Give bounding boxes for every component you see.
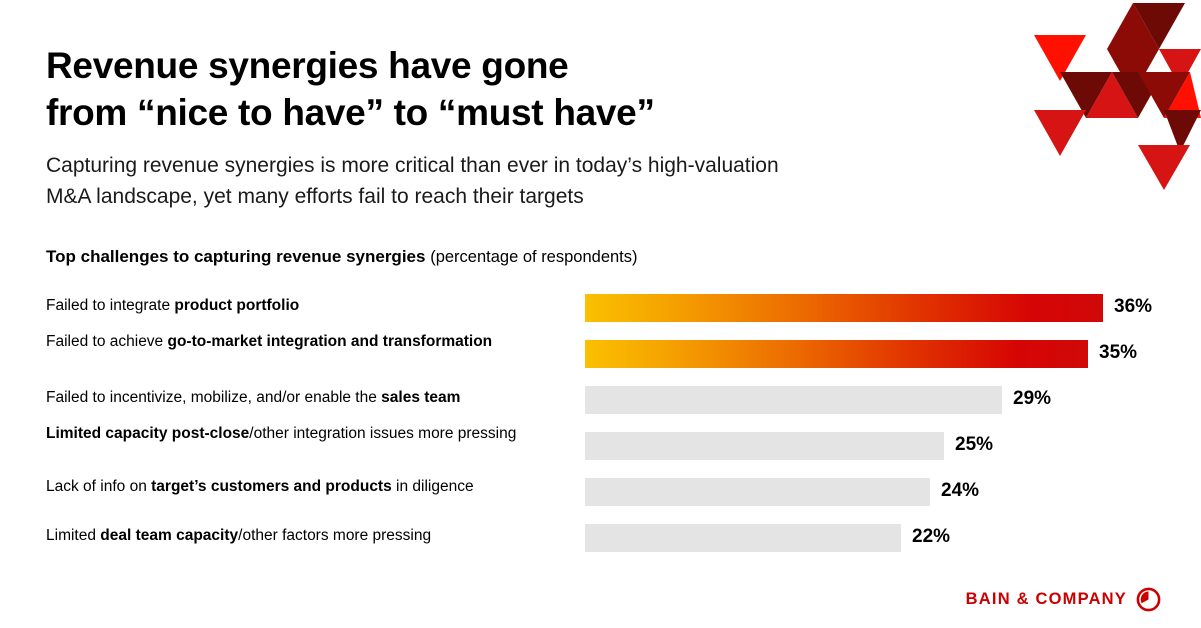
bar-row-label: Failed to achieve go-to-market integrati… (46, 332, 574, 351)
bar-value-label: 22% (912, 526, 950, 548)
bar-value-label: 36% (1114, 296, 1152, 318)
label-text: /other integration issues more pressing (249, 425, 516, 442)
bar-row-label: Failed to integrate product portfolio (46, 296, 574, 315)
bar-row: Failed to integrate product portfolio36% (46, 290, 1166, 336)
label-emphasis: product portfolio (174, 297, 299, 314)
label-text: Failed to achieve (46, 333, 168, 350)
bar-value-label: 35% (1099, 342, 1137, 364)
triangle-8 (1112, 72, 1164, 118)
triangle-11 (1034, 110, 1086, 156)
label-text: /other factors more pressing (238, 527, 431, 544)
bar-chart: Top challenges to capturing revenue syne… (46, 246, 1166, 566)
page-header: Revenue synergies have gone from “nice t… (46, 42, 996, 212)
bar-row: Limited deal team capacity/other factors… (46, 520, 1166, 566)
triangle-10 (1164, 72, 1201, 118)
page-title: Revenue synergies have gone from “nice t… (46, 42, 996, 136)
triangle-7 (1086, 72, 1138, 118)
bain-circle-mark-icon (1136, 587, 1161, 612)
bar (585, 386, 1002, 414)
bar (585, 478, 930, 506)
label-emphasis: Limited capacity post-close (46, 425, 249, 442)
triangle-6 (1060, 72, 1112, 118)
bar (585, 432, 944, 460)
bar-track: 25% (585, 432, 1160, 460)
label-emphasis: go-to-market integration and transformat… (168, 333, 493, 350)
bar (585, 340, 1088, 368)
triangle-9 (1138, 72, 1190, 118)
bar-rows: Failed to integrate product portfolio36%… (46, 290, 1166, 566)
bar-track: 24% (585, 478, 1160, 506)
bar-track: 22% (585, 524, 1160, 552)
bar-row-label: Limited capacity post-close/other integr… (46, 424, 574, 443)
page-title-line1: Revenue synergies have gone (46, 45, 568, 86)
triangle-motif-svg (1010, 0, 1201, 190)
label-text: Failed to integrate (46, 297, 174, 314)
chart-subtitle: (percentage of respondents) (430, 248, 637, 266)
chart-title: Top challenges to capturing revenue syne… (46, 247, 425, 266)
label-text: Lack of info on (46, 478, 151, 495)
bain-wordmark: BAIN & COMPANY (966, 590, 1127, 609)
label-emphasis: target’s customers and products (151, 478, 392, 495)
bar-track: 29% (585, 386, 1160, 414)
bar-value-label: 24% (941, 480, 979, 502)
bar-row-label: Limited deal team capacity/other factors… (46, 526, 574, 545)
bar-row: Lack of info on target’s customers and p… (46, 474, 1166, 520)
label-text: in diligence (392, 478, 474, 495)
bar-row: Limited capacity post-close/other integr… (46, 428, 1166, 474)
label-text: Limited (46, 527, 100, 544)
bar-value-label: 29% (1013, 388, 1051, 410)
bar-value-label: 25% (955, 434, 993, 456)
triangle-1 (1133, 3, 1185, 49)
page-title-line2: from “nice to have” to “must have” (46, 92, 655, 133)
bar-track: 36% (585, 294, 1160, 322)
bar-row: Failed to incentivize, mobilize, and/or … (46, 382, 1166, 428)
label-emphasis: deal team capacity (100, 527, 238, 544)
triangle-12 (1164, 110, 1201, 152)
triangle-13 (1138, 145, 1190, 190)
triangle-3 (1034, 35, 1086, 81)
triangle-4 (1107, 49, 1159, 95)
label-text: Failed to incentivize, mobilize, and/or … (46, 389, 381, 406)
bar (585, 524, 901, 552)
bar-track: 35% (585, 340, 1160, 368)
bain-company-logo: BAIN & COMPANY (966, 587, 1161, 612)
bar-row: Failed to achieve go-to-market integrati… (46, 336, 1166, 382)
label-emphasis: sales team (381, 389, 460, 406)
bar-row-label: Lack of info on target’s customers and p… (46, 477, 574, 496)
page-subtitle: Capturing revenue synergies is more crit… (46, 150, 996, 212)
bar (585, 294, 1103, 322)
triangle-5 (1159, 49, 1201, 87)
chart-header: Top challenges to capturing revenue syne… (46, 246, 1166, 268)
page-subtitle-line2: M&A landscape, yet many efforts fail to … (46, 185, 584, 208)
page-subtitle-line1: Capturing revenue synergies is more crit… (46, 154, 779, 177)
bar-row-label: Failed to incentivize, mobilize, and/or … (46, 388, 574, 407)
bain-triangle-motif (1010, 0, 1201, 190)
triangle-2 (1107, 3, 1159, 49)
